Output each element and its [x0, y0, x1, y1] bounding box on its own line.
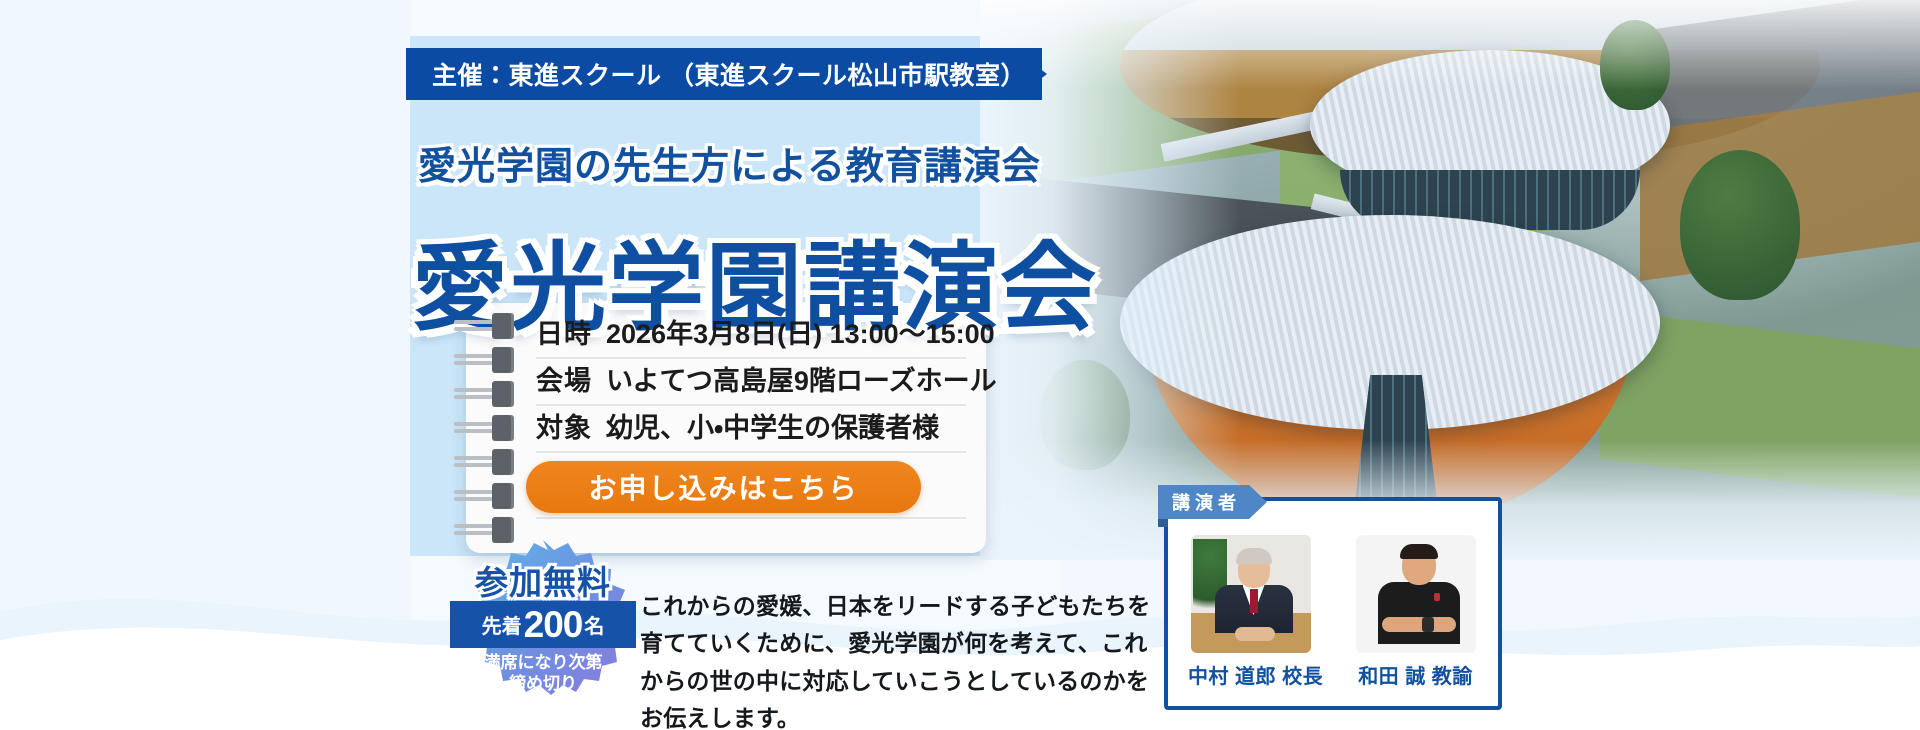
info-value-venue: いよてつ高島屋9階ローズホール: [606, 359, 997, 398]
promo-banner: 主催：東進スクール （東進スクール松山市駅教室） 愛光学園の先生方による教育講演…: [0, 0, 1920, 730]
speaker-item: 和田 誠 教諭: [1353, 535, 1478, 689]
info-row-venue: 会場 いよてつ高島屋9階ローズホール: [536, 359, 966, 406]
badge-unit: 名: [584, 610, 604, 639]
info-row-datetime: 日時 2026年3月8日(日) 13:00〜15:00: [536, 312, 966, 359]
speakers-tag-tip-icon: [1249, 485, 1267, 519]
badge-note-line1: 満席になり次第: [448, 652, 638, 673]
badge-capacity-band: 先着 200 名: [450, 601, 636, 648]
speaker-item: 中村 道郎 校長: [1188, 535, 1313, 689]
speaker-name: 中村 道郎 校長: [1188, 660, 1313, 689]
info-row-audience: 対象 幼児、小・中学生の保護者様: [536, 406, 966, 453]
campus-photo: [980, 0, 1920, 560]
cta-row: お申し込みはこちら: [536, 453, 966, 519]
organizer-text: 主催：東進スクール （東進スクール松山市駅教室）: [432, 56, 1026, 92]
photo-top-fade: [980, 0, 1920, 90]
speakers-panel: 講演者 中村 道郎 校長 和田 誠 教諭: [1164, 497, 1502, 710]
badge-free-text: 参加無料: [448, 556, 638, 604]
event-subtitle: 愛光学園の先生方による教育講演会: [418, 135, 1041, 190]
badge-prefix: 先着: [482, 610, 522, 639]
info-label-venue: 会場: [536, 359, 592, 398]
speakers-tag: 講演者: [1158, 485, 1267, 519]
info-label-audience: 対象: [536, 406, 592, 445]
organizer-ribbon: 主催：東進スクール （東進スクール松山市駅教室）: [406, 48, 1042, 100]
info-rows: 日時 2026年3月8日(日) 13:00〜15:00 会場 いよてつ高島屋9階…: [536, 312, 966, 519]
badge-count: 200: [524, 604, 583, 646]
event-description: これからの愛媛、日本をリードする子どもたちを育てていくために、愛光学園が何を考え…: [640, 588, 1170, 730]
apply-button-label: お申し込みはこちら: [588, 467, 858, 507]
info-value-datetime: 2026年3月8日(日) 13:00〜15:00: [606, 312, 995, 351]
photo-tree: [1680, 150, 1800, 300]
info-value-audience: 幼児、小・中学生の保護者様: [606, 406, 939, 445]
free-admission-badge: 参加無料 先着 200 名 満席になり次第 締め切り: [448, 538, 638, 718]
speakers-tag-fold: [1158, 519, 1168, 527]
speaker-photo-teacher: [1356, 535, 1476, 653]
spiral-binding-icon: [454, 316, 526, 546]
apply-button[interactable]: お申し込みはこちら: [526, 461, 921, 513]
speakers-list: 中村 道郎 校長 和田 誠 教諭: [1168, 535, 1498, 689]
speaker-photo-principal: [1191, 535, 1311, 653]
badge-note-line2: 締め切り: [448, 673, 638, 694]
speaker-name: 和田 誠 教諭: [1353, 660, 1478, 689]
info-label-datetime: 日時: [536, 312, 592, 351]
ribbon-arrow-icon: [1013, 48, 1047, 100]
badge-note: 満席になり次第 締め切り: [448, 652, 638, 695]
speakers-tag-label: 講演者: [1158, 485, 1249, 519]
